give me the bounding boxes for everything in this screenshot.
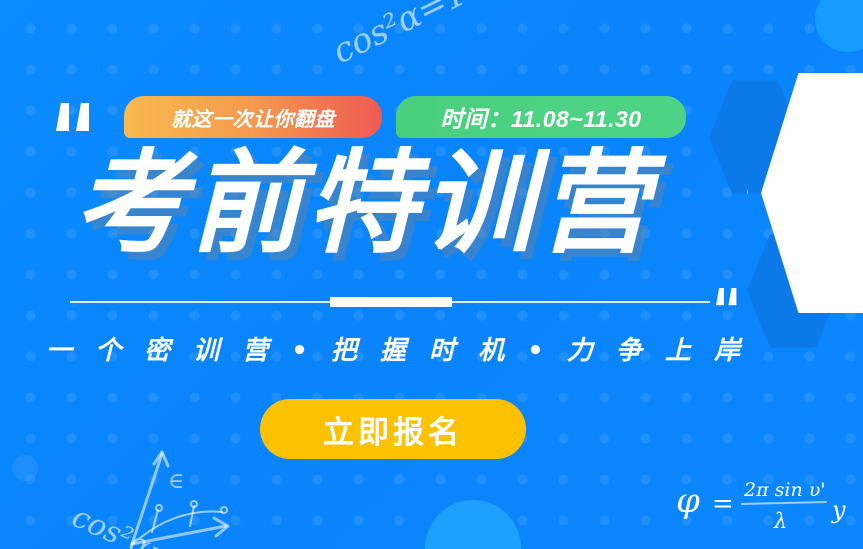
handwriting-formula-bottom-right: φ = 2π sin υ' λ y xyxy=(676,470,861,540)
decorative-circle-top-right xyxy=(815,0,863,52)
signup-button[interactable]: 立即报名 xyxy=(260,399,526,459)
handwriting-diagram-bottom-left: ∈ cos²α=1 xyxy=(74,448,284,549)
formula-denominator: λ xyxy=(773,509,787,533)
badge-row: 就这一次让你翻盘 时间：11.08~11.30 xyxy=(124,96,686,138)
formula-numerator: 2π sin υ' xyxy=(743,479,826,501)
page-title: 考前特训营 xyxy=(74,140,654,268)
decorative-circle-bottom-center xyxy=(425,500,521,549)
handwriting-top-text: cos²α=1 xyxy=(326,0,473,72)
formula-tail-variable: y xyxy=(831,496,846,524)
date-badge: 时间：11.08~11.30 xyxy=(396,96,686,138)
offer-badge: 就这一次让你翻盘 xyxy=(124,96,382,138)
handwriting-bottom-left-text: cos²α=1 xyxy=(67,499,197,549)
subtitle: 一 个 密 训 营 • 把 握 时 机 • 力 争 上 岸 xyxy=(0,330,863,367)
quote-mark-open-icon xyxy=(56,103,96,136)
handwriting-formula-top: cos²α=1 xyxy=(330,0,550,102)
formula-phi-symbol: φ xyxy=(676,481,700,521)
handwriting-epsilon: ∈ xyxy=(168,469,184,494)
formula-equals-symbol: = xyxy=(712,489,734,519)
promo-banner: cos²α=1 ∈ cos²α=1 φ xyxy=(0,0,863,549)
quote-mark-close-icon xyxy=(716,288,741,308)
quote-wedge-right xyxy=(76,103,89,131)
quote-wedge-left xyxy=(716,288,724,305)
divider xyxy=(70,301,710,303)
divider-center-block xyxy=(330,297,452,307)
quote-wedge-right xyxy=(728,288,736,305)
decorative-circle-bottom-left xyxy=(12,455,38,481)
quote-wedge-left xyxy=(56,103,69,131)
